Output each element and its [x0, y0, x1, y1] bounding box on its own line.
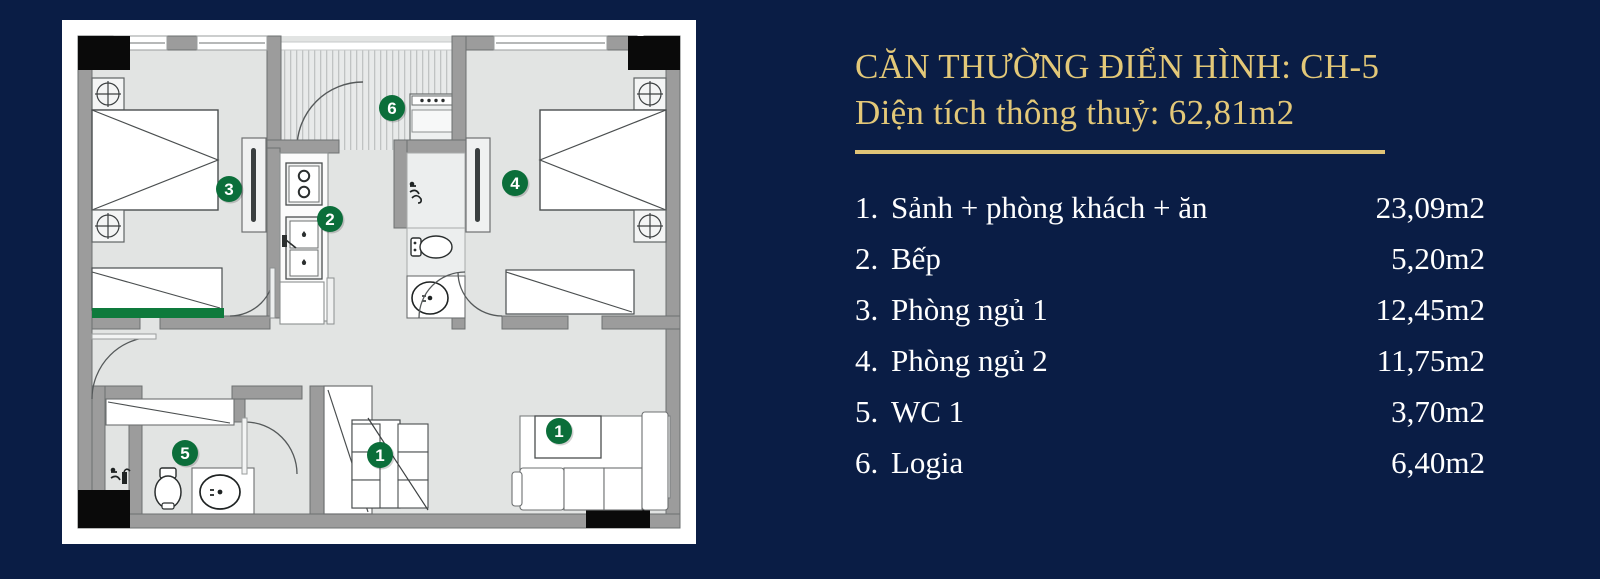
- marker-label: 6: [387, 99, 396, 118]
- marker-label: 4: [510, 174, 520, 193]
- legend-room-name: Bếp: [889, 233, 1391, 284]
- legend-index: 5.: [855, 386, 889, 437]
- marker-label: 1: [554, 422, 563, 441]
- legend-room-area: 11,75m2: [1377, 335, 1495, 386]
- legend-room-name: Phòng ngủ 2: [889, 335, 1377, 386]
- legend-room-name: Phòng ngủ 1: [889, 284, 1376, 335]
- legend-room-name: Logia: [889, 437, 1391, 488]
- legend-index: 1.: [855, 182, 889, 233]
- legend-row: 1.Sảnh + phòng khách + ăn23,09m2: [855, 182, 1495, 233]
- room-bathroom-2: [407, 153, 465, 318]
- page-title: CĂN THƯỜNG ĐIỂN HÌNH: CH-5: [855, 44, 1495, 90]
- legend-room-name: Sảnh + phòng khách + ăn: [889, 182, 1376, 233]
- marker-label: 3: [224, 180, 233, 199]
- info-panel: CĂN THƯỜNG ĐIỂN HÌNH: CH-5 Diện tích thô…: [855, 44, 1495, 534]
- green-accent-bar: [92, 308, 224, 318]
- legend-room-area: 6,40m2: [1391, 437, 1495, 488]
- page-subtitle: Diện tích thông thuỷ: 62,81m2: [855, 90, 1495, 136]
- legend-room-area: 3,70m2: [1391, 386, 1495, 437]
- room-kitchen: [280, 153, 334, 324]
- legend-index: 3.: [855, 284, 889, 335]
- legend-index: 4.: [855, 335, 889, 386]
- legend-row: 3.Phòng ngủ 112,45m2: [855, 284, 1495, 335]
- marker-label: 2: [325, 210, 334, 229]
- floorplan-drawing: 1123456: [62, 20, 696, 544]
- marker-label: 1: [375, 446, 384, 465]
- legend-index: 2.: [855, 233, 889, 284]
- legend-row: 6.Logia6,40m2: [855, 437, 1495, 488]
- poster-root: 1123456 CĂN THƯỜNG ĐIỂN HÌNH: CH-5 Diện …: [0, 0, 1600, 579]
- room-logia: [277, 42, 457, 150]
- legend-room-name: WC 1: [889, 386, 1391, 437]
- legend-index: 6.: [855, 437, 889, 488]
- floorplan-card: 1123456: [62, 20, 696, 544]
- legend-row: 2.Bếp5,20m2: [855, 233, 1495, 284]
- legend-room-area: 23,09m2: [1376, 182, 1495, 233]
- legend-room-area: 12,45m2: [1376, 284, 1495, 335]
- gold-divider: [855, 150, 1385, 154]
- marker-label: 5: [180, 444, 189, 463]
- room-legend-list: 1.Sảnh + phòng khách + ăn23,09m22.Bếp5,2…: [855, 182, 1495, 488]
- legend-row: 4.Phòng ngủ 211,75m2: [855, 335, 1495, 386]
- legend-room-area: 5,20m2: [1391, 233, 1495, 284]
- legend-row: 5.WC 13,70m2: [855, 386, 1495, 437]
